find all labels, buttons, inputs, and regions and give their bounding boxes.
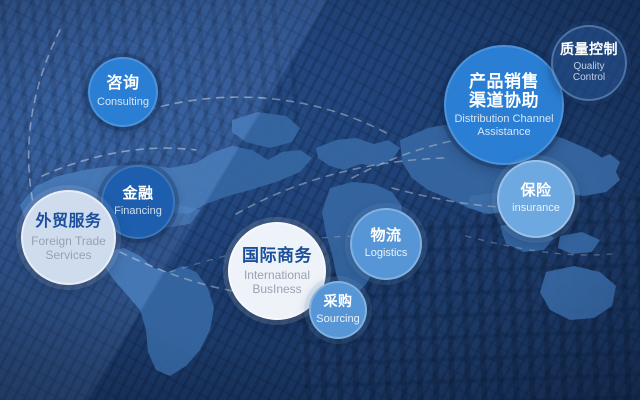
bubble-label-cn: 外贸服务	[35, 213, 101, 231]
bubble-label-en: International BusIness	[235, 268, 319, 296]
bubble-label-cn: 物流	[370, 228, 401, 245]
bubble-label-cn: 金融	[122, 186, 153, 203]
bubble-distribution-channel-assistance[interactable]: 产品销售渠道协助Distribution Channel Assistance	[444, 45, 564, 165]
bubble-label-cn: 产品销售渠道协助	[469, 72, 539, 110]
bubble-label-en: Sourcing	[316, 313, 359, 326]
bubble-label-cn-line2: 渠道协助	[469, 91, 539, 110]
bubble-label-en: Logistics	[365, 247, 408, 260]
bubble-label-cn: 国际商务	[242, 246, 312, 265]
bubble-label-en: Financing	[114, 205, 162, 218]
bubble-label-en: Distribution Channel Assistance	[453, 113, 556, 139]
bubble-sourcing[interactable]: 采购Sourcing	[309, 281, 367, 339]
bubble-label-en: Foreign Trade Services	[28, 234, 110, 262]
bubble-logistics[interactable]: 物流Logistics	[350, 208, 422, 280]
bubble-quality-control[interactable]: 质量控制Quality Control	[551, 25, 627, 101]
bubble-label-cn-line1: 产品销售	[469, 72, 539, 91]
bubble-consulting[interactable]: 咨询Consulting	[88, 57, 158, 127]
infographic-canvas: 咨询Consulting金融Financing外贸服务Foreign Trade…	[0, 0, 640, 400]
bubble-label-cn: 保险	[520, 183, 551, 200]
bubble-label-en: Consulting	[97, 96, 149, 109]
bubble-insurance[interactable]: 保险insurance	[497, 160, 575, 238]
bubble-label-cn: 采购	[324, 294, 353, 310]
bubble-foreign-trade-services[interactable]: 外贸服务Foreign Trade Services	[21, 190, 116, 285]
bubble-label-en: insurance	[512, 202, 560, 215]
bubble-label-en: Quality Control	[557, 61, 622, 85]
bubble-label-cn: 质量控制	[560, 42, 618, 58]
bubble-label-cn: 咨询	[106, 75, 139, 93]
